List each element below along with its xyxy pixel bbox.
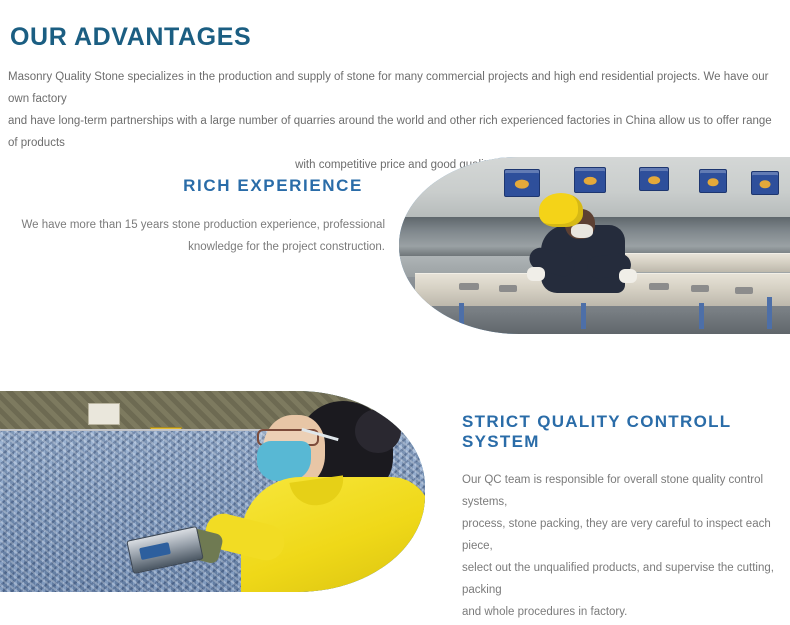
table-leg-2 <box>581 303 586 329</box>
ceiling-machine-box-2 <box>574 167 606 193</box>
table-leg-3 <box>699 303 704 329</box>
slab-fitting-5 <box>735 287 753 294</box>
strict-quality-body-line-2: process, stone packing, they are very ca… <box>462 513 784 557</box>
worker-left-glove <box>527 267 545 281</box>
section-rich-experience-heading: RICH EXPERIENCE <box>20 176 385 196</box>
strict-quality-body-line-4: and whole procedures in factory. <box>462 601 784 623</box>
qc-inspector-figure <box>205 393 425 592</box>
rich-experience-body-line-2: knowledge for the project construction. <box>20 236 385 258</box>
page-title: OUR ADVANTAGES <box>10 24 251 52</box>
intro-line-2: and have long-term partnerships with a l… <box>8 110 782 154</box>
strict-quality-body-line-1: Our QC team is responsible for overall s… <box>462 469 784 513</box>
section-strict-quality-text: STRICT QUALITY CONTROLL SYSTEM Our QC te… <box>462 412 784 623</box>
inspector-hair-bun <box>355 409 401 453</box>
table-leg-4 <box>767 297 772 329</box>
factory-worker-figure <box>527 193 639 301</box>
rich-experience-body-line-1: We have more than 15 years stone product… <box>20 214 385 236</box>
worker-dust-mask <box>571 224 593 238</box>
slab-fitting-4 <box>691 285 709 292</box>
slab-fitting-2 <box>499 285 517 292</box>
section-strict-quality-heading: STRICT QUALITY CONTROLL SYSTEM <box>462 412 784 452</box>
strict-quality-body-line-3: select out the unqualified products, and… <box>462 557 784 601</box>
section-rich-experience-text: RICH EXPERIENCE We have more than 15 yea… <box>20 176 385 258</box>
ceiling-machine-box-5 <box>751 171 779 195</box>
section-strict-quality-body: Our QC team is responsible for overall s… <box>462 469 784 623</box>
yard-sign-white <box>88 403 120 425</box>
worker-right-glove <box>619 269 637 283</box>
slab-fitting-1 <box>459 283 479 290</box>
ceiling-machine-box-3 <box>639 167 669 191</box>
ceiling-machine-box-4 <box>699 169 727 193</box>
section-rich-experience-body: We have more than 15 years stone product… <box>20 214 385 258</box>
factory-worker-stone-slab-photo <box>399 157 790 334</box>
inspector-blue-face-mask <box>257 441 311 481</box>
qc-inspector-stone-wall-photo <box>0 391 425 592</box>
slab-fitting-3 <box>649 283 669 290</box>
worker-yellow-helmet <box>539 193 583 227</box>
intro-line-1: Masonry Quality Stone specializes in the… <box>8 66 782 110</box>
table-leg-1 <box>459 303 464 329</box>
factory-scene <box>399 157 790 334</box>
